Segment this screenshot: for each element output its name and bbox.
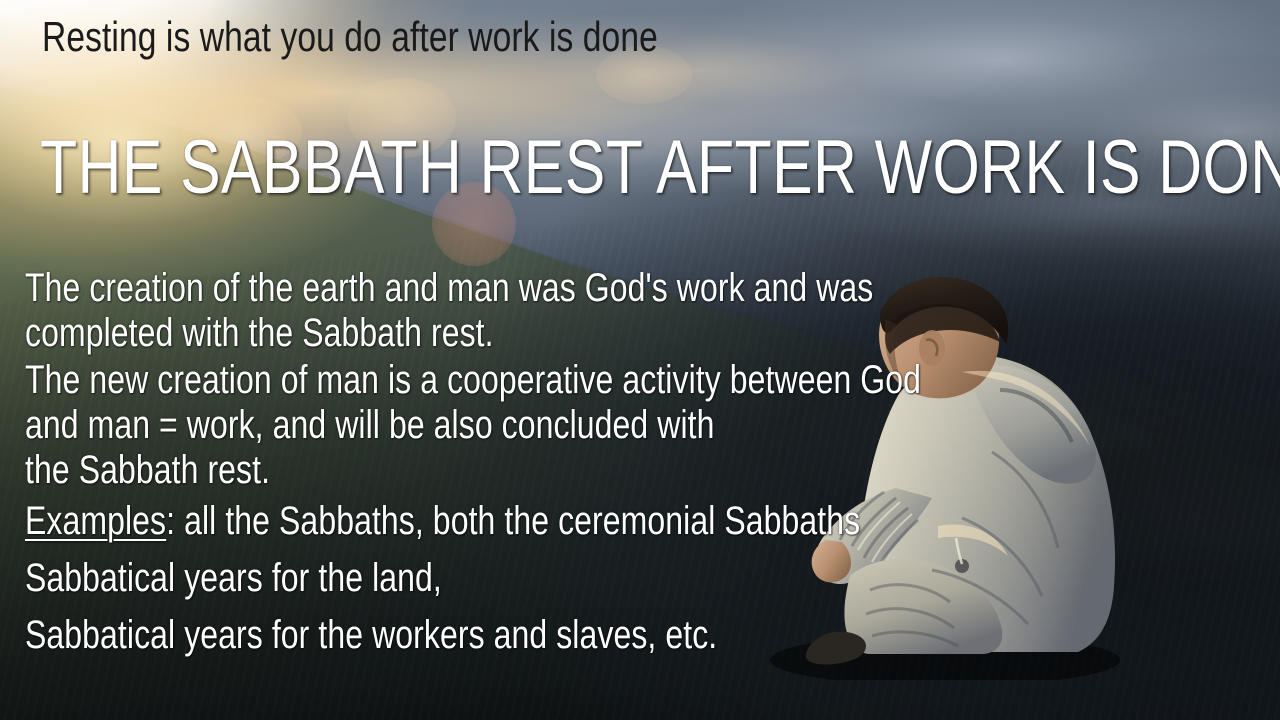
slide-body: The creation of the earth and man was Go… [25,266,925,658]
body-paragraph-land: Sabbatical years for the land, [25,556,745,601]
body-paragraph-1: The creation of the earth and man was Go… [25,266,745,356]
body-line: the Sabbath rest. [25,448,745,493]
body-line: completed with the Sabbath rest. [25,311,745,356]
header-strip: Resting is what you do after work is don… [0,0,1280,80]
man-drawstring-toggle [955,559,969,573]
examples-label: Examples [25,499,166,543]
examples-rest: : all the Sabbaths, both the ceremonial … [166,499,860,543]
body-paragraph-2: The new creation of man is a cooperative… [25,358,745,493]
slide-title: THE SABBATH REST AFTER WORK IS DONE [40,130,1280,206]
man-jacket-seams [932,452,1058,624]
body-paragraph-workers: Sabbatical years for the workers and sla… [25,613,745,658]
man-hood [968,365,1096,483]
body-line: and man = work, and will be also conclud… [25,403,745,448]
body-line: The new creation of man is a cooperative… [25,358,745,403]
body-line: The creation of the earth and man was Go… [25,266,745,311]
slide-canvas: Resting is what you do after work is don… [0,0,1280,720]
header-subtitle: Resting is what you do after work is don… [42,14,658,59]
body-paragraph-examples: Examples: all the Sabbaths, both the cer… [25,499,745,544]
